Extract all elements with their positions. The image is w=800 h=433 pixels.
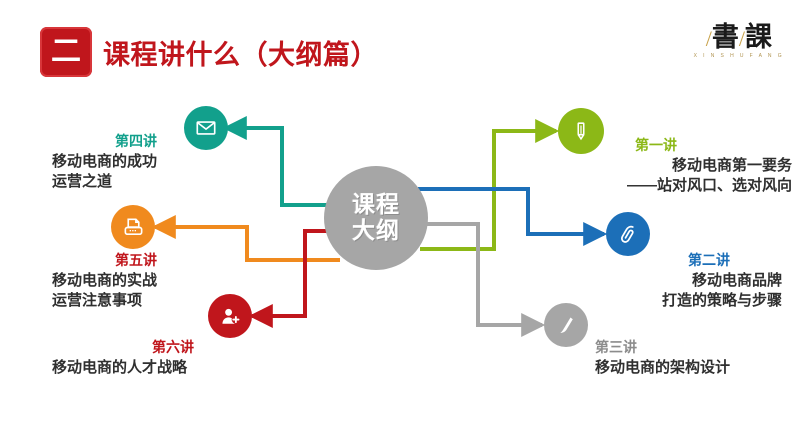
lesson-4-bubble[interactable] — [184, 106, 228, 150]
lesson-5-text[interactable]: 第五讲 移动电商的实战 运营注意事项 — [52, 253, 157, 310]
envelope-icon — [195, 117, 217, 139]
wire-lesson-3 — [410, 224, 542, 325]
lesson-5-tag: 第五讲 — [115, 253, 157, 268]
slide-canvas: 二 课程讲什么（大纲篇） /書/課 X I N S H U F A N G — [0, 0, 800, 433]
wire-lesson-4 — [226, 128, 334, 205]
lesson-3-text[interactable]: 第三讲 移动电商的架构设计 — [595, 340, 730, 378]
lesson-2-title-line2: 打造的策略与步骤 — [662, 291, 782, 311]
center-node-course-outline[interactable]: 课程 大纲 — [324, 166, 428, 270]
printer-icon — [122, 216, 145, 239]
lesson-1-title-line2: ——站对风口、选对风向 — [627, 176, 792, 196]
brush-icon — [554, 313, 578, 337]
lesson-4-text[interactable]: 第四讲 移动电商的成功 运营之道 — [52, 134, 157, 191]
lesson-4-title-line1: 移动电商的成功 — [52, 152, 157, 172]
lesson-5-title-line2: 运营注意事项 — [52, 291, 157, 311]
lesson-6-bubble[interactable] — [208, 294, 252, 338]
lesson-5-title-line1: 移动电商的实战 — [52, 271, 157, 291]
lesson-4-tag: 第四讲 — [115, 134, 157, 149]
lesson-6-text[interactable]: 第六讲 移动电商的人才战略 — [52, 340, 194, 378]
lesson-1-text[interactable]: 第一讲 移动电商第一要务 ——站对风口、选对风向 — [627, 138, 792, 195]
lesson-3-title-line1: 移动电商的架构设计 — [595, 358, 730, 378]
add-user-icon — [219, 305, 242, 328]
lesson-3-tag: 第三讲 — [595, 340, 730, 355]
lesson-6-tag: 第六讲 — [152, 340, 194, 355]
wire-lesson-2 — [418, 189, 604, 234]
lesson-2-tag: 第二讲 — [688, 253, 782, 268]
center-node-line-1: 课程 — [352, 192, 400, 218]
lesson-6-title-line1: 移动电商的人才战略 — [52, 358, 194, 378]
lesson-2-title-line1: 移动电商品牌 — [662, 271, 782, 291]
lesson-3-bubble[interactable] — [544, 303, 588, 347]
center-node-line-2: 大纲 — [352, 218, 400, 244]
lesson-5-bubble[interactable] — [111, 205, 155, 249]
lesson-2-bubble[interactable] — [606, 212, 650, 256]
lesson-4-title-line2: 运营之道 — [52, 172, 157, 192]
clip-icon — [617, 223, 640, 246]
lesson-1-title-line1: 移动电商第一要务 — [627, 156, 792, 176]
lesson-2-text[interactable]: 第二讲 移动电商品牌 打造的策略与步骤 — [662, 253, 782, 310]
lesson-1-bubble[interactable] — [558, 108, 604, 154]
pencil-icon — [570, 120, 592, 142]
lesson-1-tag: 第一讲 — [635, 138, 792, 153]
